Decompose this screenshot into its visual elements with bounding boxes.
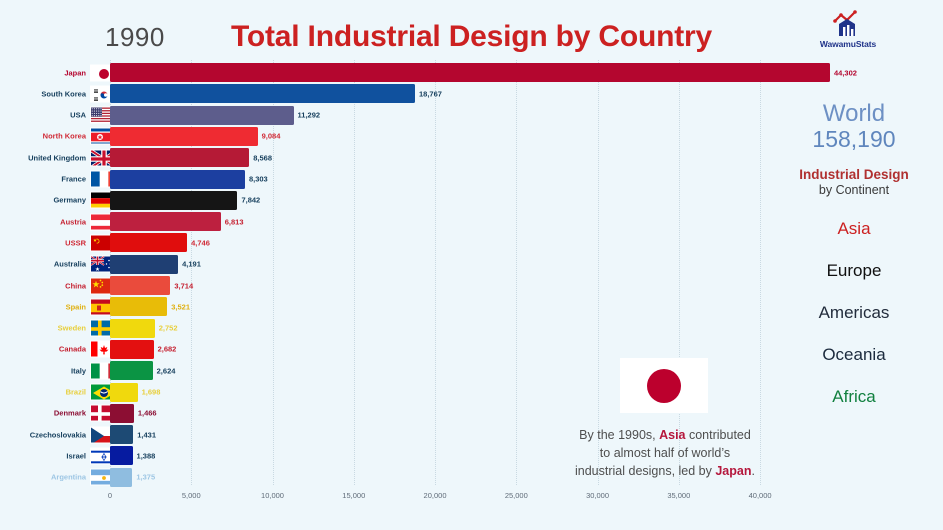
caption-asia-highlight: Asia [659,428,685,442]
caption-line1-b: contributed [686,428,751,442]
x-axis: 05,00010,00015,00020,00025,00030,00035,0… [0,485,943,507]
country-label-czechoslovakia: Czechoslovakia [0,430,88,439]
bar-japan[interactable] [110,63,830,82]
continent-subheading: by Continent [770,183,938,197]
bar-label-holder: Czechoslovakia [0,425,88,444]
wawamustats-logo: WawamuStats [808,8,888,49]
bar-australia[interactable] [110,255,178,274]
bar-value-japan: 44,302 [830,68,857,77]
bar-united-kingdom[interactable] [110,148,249,167]
bar-label-holder: Israel [0,446,88,465]
bar-label-holder: Austria [0,212,88,231]
country-label-italy: Italy [0,366,88,375]
country-label-israel: Israel [0,451,88,460]
bar-value-denmark: 1,466 [134,409,157,418]
bar-label-holder: Italy [0,361,88,380]
world-total-value: 158,190 [770,126,938,153]
bar-label-holder: Australia [0,255,88,274]
bar-value-usa: 11,292 [294,111,321,120]
caption-line3-a: industrial designs, led by [575,464,715,478]
bar-value-north-korea: 9,084 [258,132,281,141]
bar-sweden[interactable] [110,319,155,338]
continent-europe[interactable]: Europe [770,261,938,281]
caption-japan-highlight: Japan [715,464,751,478]
bar-label-holder: South Korea [0,84,88,103]
bar-italy[interactable] [110,361,153,380]
bar-france[interactable] [110,170,245,189]
bar-row: Israel1,388 [0,446,943,465]
country-label-usa: USA [0,111,88,120]
bar-label-holder: United Kingdom [0,148,88,167]
caption-line1-a: By the 1990s, [579,428,659,442]
bar-label-holder: France [0,170,88,189]
bar-china[interactable] [110,276,170,295]
caption-line2: to almost half of world’s [600,446,730,460]
bar-label-holder: Japan [0,63,88,82]
bar-brazil[interactable] [110,383,138,402]
bar-value-brazil: 1,698 [138,388,161,397]
bar-czechoslovakia[interactable] [110,425,133,444]
bar-label-holder: Argentina [0,468,88,487]
country-label-south-korea: South Korea [0,89,88,98]
country-label-france: France [0,175,88,184]
country-label-australia: Australia [0,260,88,269]
bar-label-holder: USSR [0,233,88,252]
chart-building-icon [828,8,868,38]
bar-denmark[interactable] [110,404,134,423]
bar-label-holder: Germany [0,191,88,210]
bar-value-germany: 7,842 [237,196,260,205]
country-label-austria: Austria [0,217,88,226]
x-axis-tick: 30,000 [586,491,609,500]
bar-value-ussr: 4,746 [187,238,210,247]
continent-americas[interactable]: Americas [770,303,938,323]
bar-north-korea[interactable] [110,127,258,146]
bar-label-holder: Spain [0,297,88,316]
country-label-north-korea: North Korea [0,132,88,141]
continent-asia[interactable]: Asia [770,219,938,239]
bar-label-holder: Canada [0,340,88,359]
japan-flag-large [620,358,708,413]
country-label-argentina: Argentina [0,473,88,482]
country-label-denmark: Denmark [0,409,88,418]
page-title: Total Industrial Design by Country [0,20,943,54]
bar-spain[interactable] [110,297,167,316]
country-label-china: China [0,281,88,290]
bar-germany[interactable] [110,191,237,210]
country-label-japan: Japan [0,68,88,77]
japan-flag-disc [647,369,681,403]
bar-label-holder: China [0,276,88,295]
bar-canada[interactable] [110,340,154,359]
country-label-sweden: Sweden [0,324,88,333]
bar-row: Japan44,302 [0,63,943,82]
bar-value-spain: 3,521 [167,302,190,311]
bar-value-united-kingdom: 8,568 [249,153,272,162]
bar-value-czechoslovakia: 1,431 [133,430,156,439]
bar-value-australia: 4,191 [178,260,201,269]
country-label-united-kingdom: United Kingdom [0,153,88,162]
x-axis-tick: 10,000 [261,491,284,500]
bar-austria[interactable] [110,212,221,231]
logo-text: WawamuStats [808,39,888,49]
bar-value-israel: 1,388 [133,451,156,460]
bar-value-france: 8,303 [245,175,268,184]
bar-value-sweden: 2,752 [155,324,178,333]
x-axis-tick: 35,000 [667,491,690,500]
bar-row: Argentina1,375 [0,468,943,487]
x-axis-tick: 20,000 [424,491,447,500]
bar-argentina[interactable] [110,468,132,487]
bar-ussr[interactable] [110,233,187,252]
bar-label-holder: Sweden [0,319,88,338]
x-axis-tick: 0 [108,491,112,500]
x-axis-tick: 40,000 [749,491,772,500]
country-label-brazil: Brazil [0,388,88,397]
bar-value-argentina: 1,375 [132,473,155,482]
world-title: World [770,100,938,128]
country-label-canada: Canada [0,345,88,354]
bar-label-holder: Denmark [0,404,88,423]
country-label-ussr: USSR [0,238,88,247]
x-axis-tick: 15,000 [342,491,365,500]
bar-label-holder: USA [0,106,88,125]
bar-label-holder: North Korea [0,127,88,146]
bar-chart-race-screen: 1990 Total Industrial Design by Country … [0,0,943,530]
x-axis-tick: 25,000 [505,491,528,500]
world-summary-panel: World 158,190 Industrial Design by Conti… [770,100,938,407]
continent-list: AsiaEuropeAmericasOceaniaAfrica [770,219,938,407]
country-label-germany: Germany [0,196,88,205]
bar-label-holder: Brazil [0,383,88,402]
continent-africa[interactable]: Africa [770,387,938,407]
caption-text: By the 1990s, Asia contributed to almost… [540,426,790,480]
bar-value-canada: 2,682 [154,345,177,354]
caption-line3-b: . [752,464,755,478]
x-axis-tick: 5,000 [182,491,201,500]
bar-value-austria: 6,813 [221,217,244,226]
bar-value-south-korea: 18,767 [415,89,442,98]
bar-value-italy: 2,624 [153,366,176,375]
continent-oceania[interactable]: Oceania [770,345,938,365]
continent-heading: Industrial Design [770,167,938,182]
bar-usa[interactable] [110,106,294,125]
country-label-spain: Spain [0,302,88,311]
bar-row: Czechoslovakia1,431 [0,425,943,444]
bar-value-china: 3,714 [170,281,193,290]
bar-south-korea[interactable] [110,84,415,103]
bar-israel[interactable] [110,446,133,465]
